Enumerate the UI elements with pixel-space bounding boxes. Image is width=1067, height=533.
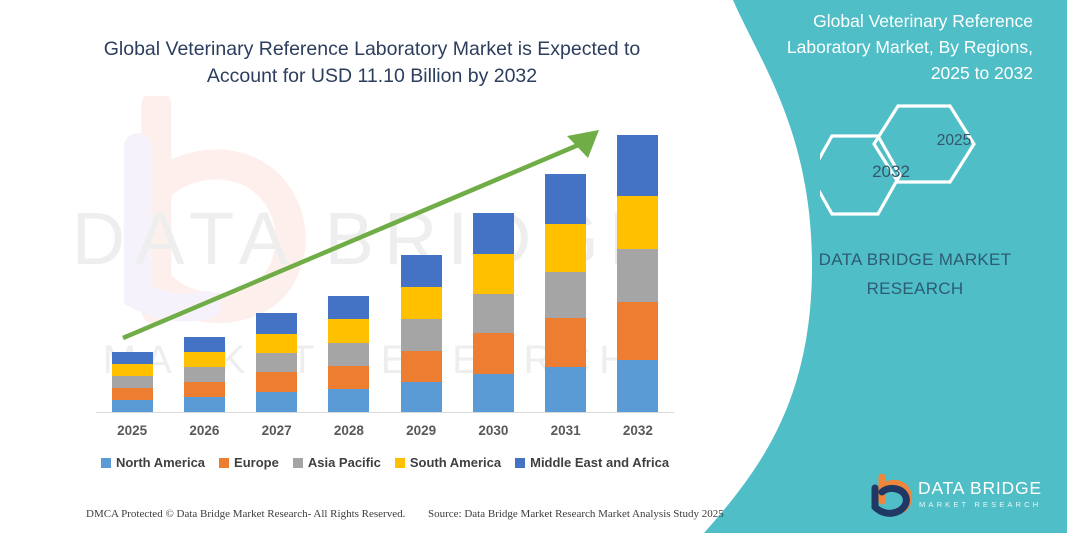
x-axis-tick-label: 2026 (168, 423, 240, 438)
panel-heading: Global Veterinary Reference Laboratory M… (761, 8, 1033, 86)
bar-segment[interactable] (256, 334, 297, 353)
legend-swatch (515, 458, 525, 468)
bar-segment[interactable] (401, 382, 442, 412)
bar-segment[interactable] (545, 224, 586, 272)
x-axis-labels: 20252026202720282029203020312032 (96, 423, 674, 438)
bar-segment[interactable] (112, 400, 153, 412)
bar-segment[interactable] (256, 372, 297, 392)
logo-subtitle: MARKET RESEARCH (919, 500, 1041, 509)
logo-name: DATA BRIDGE (918, 478, 1042, 499)
bar-slot (168, 110, 240, 412)
bar-segment[interactable] (112, 364, 153, 376)
bar-segment[interactable] (328, 319, 369, 342)
x-axis-tick-label: 2032 (602, 423, 674, 438)
legend-swatch (293, 458, 303, 468)
legend-item[interactable]: Asia Pacific (293, 455, 381, 470)
x-axis-line (96, 412, 674, 413)
stacked-bar[interactable] (473, 213, 514, 412)
x-axis-tick-label: 2030 (457, 423, 529, 438)
panel-brand-line-1: DATA BRIDGE MARKET (790, 245, 1040, 274)
bar-segment[interactable] (112, 352, 153, 364)
stacked-bar[interactable] (617, 135, 658, 412)
bar-slot (241, 110, 313, 412)
x-axis-tick-label: 2029 (385, 423, 457, 438)
legend-item[interactable]: North America (101, 455, 205, 470)
x-axis-tick-label: 2028 (313, 423, 385, 438)
bar-segment[interactable] (617, 135, 658, 195)
data-bridge-b-logo (868, 474, 916, 520)
bar-segment[interactable] (328, 389, 369, 412)
bar-segment[interactable] (256, 313, 297, 333)
bar-segment[interactable] (473, 374, 514, 412)
bar-segment[interactable] (184, 382, 225, 397)
panel-brand-text: DATA BRIDGE MARKET RESEARCH (790, 245, 1040, 303)
stacked-bar[interactable] (256, 313, 297, 412)
legend-swatch (219, 458, 229, 468)
bar-segment[interactable] (473, 254, 514, 294)
bar-slot (96, 110, 168, 412)
bar-segment[interactable] (545, 318, 586, 366)
bar-segment[interactable] (401, 255, 442, 287)
bar-segment[interactable] (401, 287, 442, 319)
bar-segment[interactable] (545, 272, 586, 318)
bar-slot (313, 110, 385, 412)
infographic-slide: DATA BRIDGE MARKET RESEARCH Global Veter… (0, 0, 1067, 533)
chart-legend: North AmericaEuropeAsia PacificSouth Ame… (96, 455, 674, 470)
hexagon-label-2032: 2032 (846, 162, 936, 182)
bar-segment[interactable] (112, 376, 153, 388)
bar-slot (530, 110, 602, 412)
stacked-bar-group (96, 110, 674, 412)
footer-source: Source: Data Bridge Market Research Mark… (428, 508, 724, 520)
bar-segment[interactable] (256, 353, 297, 372)
bar-segment[interactable] (184, 337, 225, 352)
bar-segment[interactable] (401, 319, 442, 350)
bar-segment[interactable] (401, 351, 442, 382)
bar-segment[interactable] (473, 294, 514, 333)
bar-segment[interactable] (545, 174, 586, 223)
bar-segment[interactable] (184, 367, 225, 382)
panel-brand-line-2: RESEARCH (790, 274, 1040, 303)
legend-item[interactable]: South America (395, 455, 501, 470)
hexagon-label-2025: 2025 (914, 132, 994, 150)
legend-item[interactable]: Middle East and Africa (515, 455, 669, 470)
legend-swatch (395, 458, 405, 468)
x-axis-tick-label: 2025 (96, 423, 168, 438)
stacked-bar[interactable] (184, 337, 225, 412)
bar-segment[interactable] (545, 367, 586, 412)
bar-segment[interactable] (328, 366, 369, 389)
data-bridge-logo: DATA BRIDGE MARKET RESEARCH (868, 474, 1038, 522)
footer-copyright: DMCA Protected © Data Bridge Market Rese… (86, 508, 405, 520)
bar-segment[interactable] (112, 388, 153, 400)
chart-plot-area (96, 110, 674, 413)
legend-label: Asia Pacific (308, 455, 381, 470)
stacked-bar[interactable] (401, 255, 442, 412)
bar-slot (385, 110, 457, 412)
bar-segment[interactable] (328, 296, 369, 319)
bar-segment[interactable] (328, 343, 369, 366)
bar-segment[interactable] (473, 213, 514, 254)
bar-slot (457, 110, 529, 412)
bar-segment[interactable] (184, 352, 225, 367)
hexagon-shapes (820, 92, 1040, 222)
bar-segment[interactable] (617, 196, 658, 249)
legend-swatch (101, 458, 111, 468)
bar-segment[interactable] (617, 360, 658, 412)
legend-label: South America (410, 455, 501, 470)
bar-segment[interactable] (184, 397, 225, 412)
bar-slot (602, 110, 674, 412)
legend-label: Middle East and Africa (530, 455, 669, 470)
chart-title: Global Veterinary Reference Laboratory M… (70, 36, 674, 90)
stacked-bar[interactable] (328, 296, 369, 412)
legend-label: North America (116, 455, 205, 470)
x-axis-tick-label: 2027 (241, 423, 313, 438)
bar-segment[interactable] (256, 392, 297, 412)
hexagon-year-badges: 2032 2025 (820, 92, 1040, 222)
stacked-bar[interactable] (545, 174, 586, 412)
bar-segment[interactable] (617, 302, 658, 359)
bar-segment[interactable] (473, 333, 514, 373)
legend-item[interactable]: Europe (219, 455, 279, 470)
legend-label: Europe (234, 455, 279, 470)
bar-segment[interactable] (617, 249, 658, 302)
x-axis-tick-label: 2031 (530, 423, 602, 438)
stacked-bar[interactable] (112, 352, 153, 412)
